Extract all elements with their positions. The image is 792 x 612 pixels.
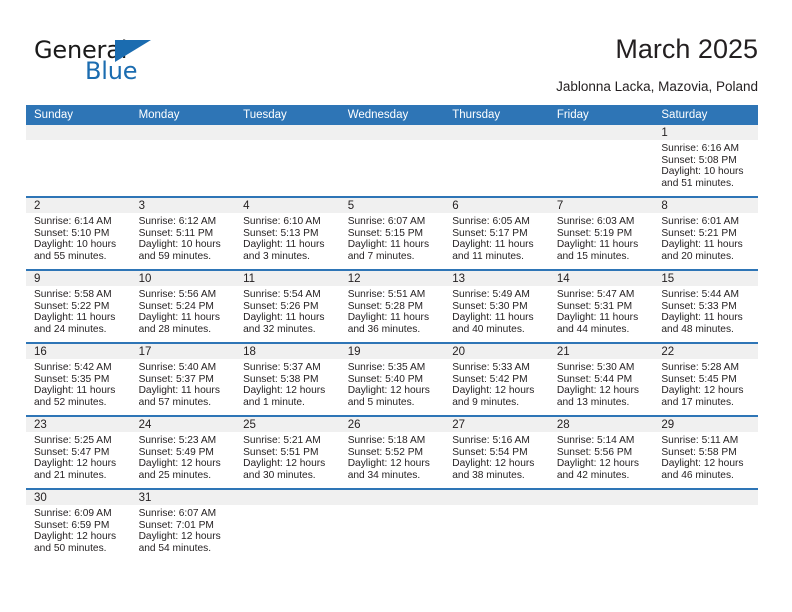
- daylight-text-line1: Daylight: 11 hours: [661, 239, 752, 251]
- calendar-day-cell[interactable]: 16Sunrise: 5:42 AMSunset: 5:35 PMDayligh…: [26, 343, 131, 416]
- sunset-text: Sunset: 5:24 PM: [139, 301, 230, 313]
- calendar-header-row: SundayMondayTuesdayWednesdayThursdayFrid…: [26, 105, 758, 125]
- calendar-day-cell[interactable]: 17Sunrise: 5:40 AMSunset: 5:37 PMDayligh…: [131, 343, 236, 416]
- day-sun-info: Sunrise: 6:07 AMSunset: 7:01 PMDaylight:…: [131, 505, 236, 554]
- day-cell-inner: 21Sunrise: 5:30 AMSunset: 5:44 PMDayligh…: [549, 344, 654, 415]
- daylight-text-line1: Daylight: 10 hours: [139, 239, 230, 251]
- day-cell-inner: 3Sunrise: 6:12 AMSunset: 5:11 PMDaylight…: [131, 198, 236, 269]
- calendar-day-cell[interactable]: 31Sunrise: 6:07 AMSunset: 7:01 PMDayligh…: [131, 489, 236, 561]
- sunrise-text: Sunrise: 5:11 AM: [661, 435, 752, 447]
- sunrise-text: Sunrise: 5:51 AM: [348, 289, 439, 301]
- sunset-text: Sunset: 5:52 PM: [348, 447, 439, 459]
- sunrise-text: Sunrise: 5:58 AM: [34, 289, 125, 301]
- day-cell-inner: 25Sunrise: 5:21 AMSunset: 5:51 PMDayligh…: [235, 417, 340, 488]
- calendar-day-cell[interactable]: 10Sunrise: 5:56 AMSunset: 5:24 PMDayligh…: [131, 270, 236, 343]
- calendar-day-cell[interactable]: 14Sunrise: 5:47 AMSunset: 5:31 PMDayligh…: [549, 270, 654, 343]
- sunset-text: Sunset: 5:51 PM: [243, 447, 334, 459]
- day-sun-info: Sunrise: 5:28 AMSunset: 5:45 PMDaylight:…: [653, 359, 758, 408]
- sunset-text: Sunset: 5:42 PM: [452, 374, 543, 386]
- daylight-text-line2: and 51 minutes.: [661, 178, 752, 190]
- calendar-day-cell[interactable]: 3Sunrise: 6:12 AMSunset: 5:11 PMDaylight…: [131, 197, 236, 270]
- sunset-text: Sunset: 5:26 PM: [243, 301, 334, 313]
- sunrise-text: Sunrise: 5:47 AM: [557, 289, 648, 301]
- daylight-text-line1: Daylight: 12 hours: [661, 458, 752, 470]
- day-sun-info: Sunrise: 5:42 AMSunset: 5:35 PMDaylight:…: [26, 359, 131, 408]
- day-sun-info: Sunrise: 5:51 AMSunset: 5:28 PMDaylight:…: [340, 286, 445, 335]
- daylight-text-line2: and 46 minutes.: [661, 470, 752, 482]
- calendar-week-row: 9Sunrise: 5:58 AMSunset: 5:22 PMDaylight…: [26, 270, 758, 343]
- day-cell-inner: 6Sunrise: 6:05 AMSunset: 5:17 PMDaylight…: [444, 198, 549, 269]
- sunrise-text: Sunrise: 6:14 AM: [34, 216, 125, 228]
- sunrise-text: Sunrise: 6:09 AM: [34, 508, 125, 520]
- day-sun-info: Sunrise: 5:30 AMSunset: 5:44 PMDaylight:…: [549, 359, 654, 408]
- day-cell-inner: 20Sunrise: 5:33 AMSunset: 5:42 PMDayligh…: [444, 344, 549, 415]
- day-cell-inner: 15Sunrise: 5:44 AMSunset: 5:33 PMDayligh…: [653, 271, 758, 342]
- day-sun-info: Sunrise: 5:37 AMSunset: 5:38 PMDaylight:…: [235, 359, 340, 408]
- day-sun-info: Sunrise: 6:14 AMSunset: 5:10 PMDaylight:…: [26, 213, 131, 262]
- daylight-text-line1: Daylight: 12 hours: [348, 458, 439, 470]
- day-cell-inner: 10Sunrise: 5:56 AMSunset: 5:24 PMDayligh…: [131, 271, 236, 342]
- daylight-text-line2: and 34 minutes.: [348, 470, 439, 482]
- day-number: [131, 125, 236, 140]
- calendar-day-cell-empty: [26, 125, 131, 197]
- sunset-text: Sunset: 5:21 PM: [661, 228, 752, 240]
- day-sun-info: Sunrise: 6:16 AMSunset: 5:08 PMDaylight:…: [653, 140, 758, 189]
- day-number: 28: [549, 417, 654, 432]
- calendar-day-cell[interactable]: 22Sunrise: 5:28 AMSunset: 5:45 PMDayligh…: [653, 343, 758, 416]
- sunrise-text: Sunrise: 6:12 AM: [139, 216, 230, 228]
- calendar-day-cell[interactable]: 24Sunrise: 5:23 AMSunset: 5:49 PMDayligh…: [131, 416, 236, 489]
- sunset-text: Sunset: 5:49 PM: [139, 447, 230, 459]
- sunrise-text: Sunrise: 5:37 AM: [243, 362, 334, 374]
- day-cell-inner: [549, 490, 654, 561]
- daylight-text-line1: Daylight: 12 hours: [139, 531, 230, 543]
- calendar-week-row: 23Sunrise: 5:25 AMSunset: 5:47 PMDayligh…: [26, 416, 758, 489]
- day-sun-info: Sunrise: 6:01 AMSunset: 5:21 PMDaylight:…: [653, 213, 758, 262]
- day-sun-info: Sunrise: 5:18 AMSunset: 5:52 PMDaylight:…: [340, 432, 445, 481]
- daylight-text-line1: Daylight: 11 hours: [348, 312, 439, 324]
- daylight-text-line2: and 48 minutes.: [661, 324, 752, 336]
- day-sun-info: Sunrise: 6:05 AMSunset: 5:17 PMDaylight:…: [444, 213, 549, 262]
- calendar-day-cell-empty: [340, 489, 445, 561]
- daylight-text-line2: and 32 minutes.: [243, 324, 334, 336]
- calendar-day-cell[interactable]: 23Sunrise: 5:25 AMSunset: 5:47 PMDayligh…: [26, 416, 131, 489]
- sunrise-text: Sunrise: 5:56 AM: [139, 289, 230, 301]
- day-cell-inner: [444, 125, 549, 196]
- day-sun-info: Sunrise: 5:56 AMSunset: 5:24 PMDaylight:…: [131, 286, 236, 335]
- sunrise-text: Sunrise: 5:21 AM: [243, 435, 334, 447]
- day-cell-inner: 1Sunrise: 6:16 AMSunset: 5:08 PMDaylight…: [653, 125, 758, 196]
- day-sun-info: Sunrise: 5:33 AMSunset: 5:42 PMDaylight:…: [444, 359, 549, 408]
- day-number: 25: [235, 417, 340, 432]
- sunrise-text: Sunrise: 6:05 AM: [452, 216, 543, 228]
- day-sun-info: Sunrise: 5:16 AMSunset: 5:54 PMDaylight:…: [444, 432, 549, 481]
- calendar-day-cell-empty: [653, 489, 758, 561]
- day-cell-inner: 11Sunrise: 5:54 AMSunset: 5:26 PMDayligh…: [235, 271, 340, 342]
- calendar-week-row: 30Sunrise: 6:09 AMSunset: 6:59 PMDayligh…: [26, 489, 758, 561]
- sunrise-text: Sunrise: 5:25 AM: [34, 435, 125, 447]
- day-number: 15: [653, 271, 758, 286]
- daylight-text-line1: Daylight: 12 hours: [34, 458, 125, 470]
- daylight-text-line2: and 5 minutes.: [348, 397, 439, 409]
- daylight-text-line2: and 28 minutes.: [139, 324, 230, 336]
- daylight-text-line2: and 15 minutes.: [557, 251, 648, 263]
- sunset-text: Sunset: 5:56 PM: [557, 447, 648, 459]
- daylight-text-line1: Daylight: 10 hours: [661, 166, 752, 178]
- daylight-text-line2: and 13 minutes.: [557, 397, 648, 409]
- daylight-text-line1: Daylight: 12 hours: [557, 385, 648, 397]
- daylight-text-line2: and 54 minutes.: [139, 543, 230, 555]
- sunset-text: Sunset: 5:58 PM: [661, 447, 752, 459]
- day-sun-info: Sunrise: 5:21 AMSunset: 5:51 PMDaylight:…: [235, 432, 340, 481]
- daylight-text-line2: and 3 minutes.: [243, 251, 334, 263]
- daylight-text-line1: Daylight: 11 hours: [557, 312, 648, 324]
- sunrise-text: Sunrise: 5:44 AM: [661, 289, 752, 301]
- day-number: 24: [131, 417, 236, 432]
- day-cell-inner: 7Sunrise: 6:03 AMSunset: 5:19 PMDaylight…: [549, 198, 654, 269]
- sunset-text: Sunset: 5:11 PM: [139, 228, 230, 240]
- weekday-header-tuesday: Tuesday: [235, 105, 340, 125]
- calendar-day-cell[interactable]: 6Sunrise: 6:05 AMSunset: 5:17 PMDaylight…: [444, 197, 549, 270]
- day-number: 5: [340, 198, 445, 213]
- sunset-text: Sunset: 5:30 PM: [452, 301, 543, 313]
- sunset-text: Sunset: 5:19 PM: [557, 228, 648, 240]
- calendar-day-cell[interactable]: 9Sunrise: 5:58 AMSunset: 5:22 PMDaylight…: [26, 270, 131, 343]
- day-sun-info: Sunrise: 6:09 AMSunset: 6:59 PMDaylight:…: [26, 505, 131, 554]
- day-cell-inner: 17Sunrise: 5:40 AMSunset: 5:37 PMDayligh…: [131, 344, 236, 415]
- daylight-text-line2: and 11 minutes.: [452, 251, 543, 263]
- sunset-text: Sunset: 5:37 PM: [139, 374, 230, 386]
- daylight-text-line2: and 42 minutes.: [557, 470, 648, 482]
- daylight-text-line1: Daylight: 10 hours: [34, 239, 125, 251]
- day-cell-inner: 18Sunrise: 5:37 AMSunset: 5:38 PMDayligh…: [235, 344, 340, 415]
- weekday-header-wednesday: Wednesday: [340, 105, 445, 125]
- daylight-text-line2: and 55 minutes.: [34, 251, 125, 263]
- daylight-text-line2: and 21 minutes.: [34, 470, 125, 482]
- calendar-day-cell[interactable]: 15Sunrise: 5:44 AMSunset: 5:33 PMDayligh…: [653, 270, 758, 343]
- day-cell-inner: 23Sunrise: 5:25 AMSunset: 5:47 PMDayligh…: [26, 417, 131, 488]
- calendar-day-cell[interactable]: 2Sunrise: 6:14 AMSunset: 5:10 PMDaylight…: [26, 197, 131, 270]
- daylight-text-line2: and 17 minutes.: [661, 397, 752, 409]
- daylight-text-line1: Daylight: 12 hours: [661, 385, 752, 397]
- day-number: 26: [340, 417, 445, 432]
- calendar-day-cell-empty: [340, 125, 445, 197]
- sunset-text: Sunset: 7:01 PM: [139, 520, 230, 532]
- calendar-day-cell[interactable]: 27Sunrise: 5:16 AMSunset: 5:54 PMDayligh…: [444, 416, 549, 489]
- daylight-text-line1: Daylight: 12 hours: [452, 458, 543, 470]
- daylight-text-line1: Daylight: 11 hours: [452, 312, 543, 324]
- sunrise-text: Sunrise: 6:03 AM: [557, 216, 648, 228]
- page-title: March 2025: [615, 34, 758, 65]
- sunrise-text: Sunrise: 6:07 AM: [348, 216, 439, 228]
- page-header: General Blue March 2025 Jablonna Lacka, …: [0, 0, 792, 100]
- calendar-day-cell[interactable]: 12Sunrise: 5:51 AMSunset: 5:28 PMDayligh…: [340, 270, 445, 343]
- daylight-text-line1: Daylight: 12 hours: [139, 458, 230, 470]
- day-cell-inner: [235, 490, 340, 561]
- daylight-text-line2: and 7 minutes.: [348, 251, 439, 263]
- day-cell-inner: 9Sunrise: 5:58 AMSunset: 5:22 PMDaylight…: [26, 271, 131, 342]
- day-cell-inner: 5Sunrise: 6:07 AMSunset: 5:15 PMDaylight…: [340, 198, 445, 269]
- day-number: 7: [549, 198, 654, 213]
- daylight-text-line2: and 57 minutes.: [139, 397, 230, 409]
- daylight-text-line2: and 1 minute.: [243, 397, 334, 409]
- daylight-text-line1: Daylight: 12 hours: [557, 458, 648, 470]
- sunrise-sunset-calendar-table: SundayMondayTuesdayWednesdayThursdayFrid…: [26, 105, 758, 561]
- daylight-text-line1: Daylight: 12 hours: [34, 531, 125, 543]
- calendar-day-cell-empty: [549, 489, 654, 561]
- day-number: 14: [549, 271, 654, 286]
- day-sun-info: Sunrise: 5:47 AMSunset: 5:31 PMDaylight:…: [549, 286, 654, 335]
- calendar-day-cell[interactable]: 1Sunrise: 6:16 AMSunset: 5:08 PMDaylight…: [653, 125, 758, 197]
- sunset-text: Sunset: 5:33 PM: [661, 301, 752, 313]
- day-number: [235, 125, 340, 140]
- brand-logo[interactable]: General Blue: [34, 36, 194, 90]
- sunset-text: Sunset: 5:35 PM: [34, 374, 125, 386]
- daylight-text-line1: Daylight: 11 hours: [243, 312, 334, 324]
- day-number: 6: [444, 198, 549, 213]
- sunrise-text: Sunrise: 5:18 AM: [348, 435, 439, 447]
- calendar-day-cell[interactable]: 28Sunrise: 5:14 AMSunset: 5:56 PMDayligh…: [549, 416, 654, 489]
- day-number: [444, 125, 549, 140]
- day-sun-info: Sunrise: 6:10 AMSunset: 5:13 PMDaylight:…: [235, 213, 340, 262]
- sunrise-text: Sunrise: 5:54 AM: [243, 289, 334, 301]
- daylight-text-line1: Daylight: 11 hours: [34, 312, 125, 324]
- day-number: 31: [131, 490, 236, 505]
- daylight-text-line2: and 50 minutes.: [34, 543, 125, 555]
- day-cell-inner: 8Sunrise: 6:01 AMSunset: 5:21 PMDaylight…: [653, 198, 758, 269]
- sunrise-text: Sunrise: 5:14 AM: [557, 435, 648, 447]
- sunset-text: Sunset: 5:15 PM: [348, 228, 439, 240]
- daylight-text-line1: Daylight: 11 hours: [452, 239, 543, 251]
- calendar-day-cell[interactable]: 13Sunrise: 5:49 AMSunset: 5:30 PMDayligh…: [444, 270, 549, 343]
- day-cell-inner: [444, 490, 549, 561]
- daylight-text-line1: Daylight: 11 hours: [139, 385, 230, 397]
- sunrise-text: Sunrise: 5:40 AM: [139, 362, 230, 374]
- daylight-text-line2: and 24 minutes.: [34, 324, 125, 336]
- day-cell-inner: 2Sunrise: 6:14 AMSunset: 5:10 PMDaylight…: [26, 198, 131, 269]
- calendar-week-row: 2Sunrise: 6:14 AMSunset: 5:10 PMDaylight…: [26, 197, 758, 270]
- day-cell-inner: 24Sunrise: 5:23 AMSunset: 5:49 PMDayligh…: [131, 417, 236, 488]
- day-number: [340, 490, 445, 505]
- sunrise-text: Sunrise: 6:07 AM: [139, 508, 230, 520]
- calendar-day-cell-empty: [549, 125, 654, 197]
- calendar-day-cell[interactable]: 29Sunrise: 5:11 AMSunset: 5:58 PMDayligh…: [653, 416, 758, 489]
- day-sun-info: Sunrise: 6:03 AMSunset: 5:19 PMDaylight:…: [549, 213, 654, 262]
- day-cell-inner: [653, 490, 758, 561]
- day-sun-info: Sunrise: 5:14 AMSunset: 5:56 PMDaylight:…: [549, 432, 654, 481]
- day-number: 16: [26, 344, 131, 359]
- day-cell-inner: 12Sunrise: 5:51 AMSunset: 5:28 PMDayligh…: [340, 271, 445, 342]
- day-number: 17: [131, 344, 236, 359]
- day-number: 18: [235, 344, 340, 359]
- daylight-text-line2: and 20 minutes.: [661, 251, 752, 263]
- day-number: 13: [444, 271, 549, 286]
- daylight-text-line2: and 52 minutes.: [34, 397, 125, 409]
- day-number: [444, 490, 549, 505]
- calendar-week-row: 16Sunrise: 5:42 AMSunset: 5:35 PMDayligh…: [26, 343, 758, 416]
- day-number: 12: [340, 271, 445, 286]
- daylight-text-line2: and 40 minutes.: [452, 324, 543, 336]
- day-sun-info: Sunrise: 6:07 AMSunset: 5:15 PMDaylight:…: [340, 213, 445, 262]
- day-number: 20: [444, 344, 549, 359]
- day-number: 27: [444, 417, 549, 432]
- sunset-text: Sunset: 5:22 PM: [34, 301, 125, 313]
- day-number: 29: [653, 417, 758, 432]
- calendar-day-cell[interactable]: 5Sunrise: 6:07 AMSunset: 5:15 PMDaylight…: [340, 197, 445, 270]
- sunset-text: Sunset: 5:47 PM: [34, 447, 125, 459]
- day-cell-inner: 26Sunrise: 5:18 AMSunset: 5:52 PMDayligh…: [340, 417, 445, 488]
- day-number: 21: [549, 344, 654, 359]
- day-number: [549, 490, 654, 505]
- day-number: 8: [653, 198, 758, 213]
- sunset-text: Sunset: 5:13 PM: [243, 228, 334, 240]
- sunrise-text: Sunrise: 5:42 AM: [34, 362, 125, 374]
- sunset-text: Sunset: 5:10 PM: [34, 228, 125, 240]
- daylight-text-line1: Daylight: 12 hours: [452, 385, 543, 397]
- daylight-text-line1: Daylight: 11 hours: [557, 239, 648, 251]
- daylight-text-line2: and 30 minutes.: [243, 470, 334, 482]
- sunrise-text: Sunrise: 5:28 AM: [661, 362, 752, 374]
- calendar-day-cell[interactable]: 30Sunrise: 6:09 AMSunset: 6:59 PMDayligh…: [26, 489, 131, 561]
- day-number: 9: [26, 271, 131, 286]
- day-sun-info: Sunrise: 5:44 AMSunset: 5:33 PMDaylight:…: [653, 286, 758, 335]
- sunrise-text: Sunrise: 6:10 AM: [243, 216, 334, 228]
- weekday-header-thursday: Thursday: [444, 105, 549, 125]
- day-cell-inner: 16Sunrise: 5:42 AMSunset: 5:35 PMDayligh…: [26, 344, 131, 415]
- day-number: 30: [26, 490, 131, 505]
- day-sun-info: Sunrise: 5:23 AMSunset: 5:49 PMDaylight:…: [131, 432, 236, 481]
- daylight-text-line2: and 38 minutes.: [452, 470, 543, 482]
- day-number: 23: [26, 417, 131, 432]
- daylight-text-line2: and 44 minutes.: [557, 324, 648, 336]
- brand-name-blue: Blue: [85, 57, 137, 85]
- weekday-header-monday: Monday: [131, 105, 236, 125]
- sunset-text: Sunset: 5:44 PM: [557, 374, 648, 386]
- calendar-body: 1Sunrise: 6:16 AMSunset: 5:08 PMDaylight…: [26, 125, 758, 561]
- day-cell-inner: [340, 490, 445, 561]
- day-cell-inner: 30Sunrise: 6:09 AMSunset: 6:59 PMDayligh…: [26, 490, 131, 561]
- sunset-text: Sunset: 5:28 PM: [348, 301, 439, 313]
- daylight-text-line1: Daylight: 12 hours: [348, 385, 439, 397]
- day-cell-inner: [340, 125, 445, 196]
- sunrise-text: Sunrise: 5:35 AM: [348, 362, 439, 374]
- calendar-day-cell[interactable]: 20Sunrise: 5:33 AMSunset: 5:42 PMDayligh…: [444, 343, 549, 416]
- day-sun-info: Sunrise: 6:12 AMSunset: 5:11 PMDaylight:…: [131, 213, 236, 262]
- day-cell-inner: 29Sunrise: 5:11 AMSunset: 5:58 PMDayligh…: [653, 417, 758, 488]
- day-cell-inner: [26, 125, 131, 196]
- daylight-text-line1: Daylight: 12 hours: [243, 458, 334, 470]
- daylight-text-line1: Daylight: 12 hours: [243, 385, 334, 397]
- calendar-day-cell[interactable]: 18Sunrise: 5:37 AMSunset: 5:38 PMDayligh…: [235, 343, 340, 416]
- day-number: 4: [235, 198, 340, 213]
- calendar-day-cell-empty: [235, 489, 340, 561]
- day-sun-info: Sunrise: 5:35 AMSunset: 5:40 PMDaylight:…: [340, 359, 445, 408]
- calendar-day-cell[interactable]: 25Sunrise: 5:21 AMSunset: 5:51 PMDayligh…: [235, 416, 340, 489]
- day-cell-inner: [235, 125, 340, 196]
- day-number: 3: [131, 198, 236, 213]
- sunset-text: Sunset: 5:31 PM: [557, 301, 648, 313]
- daylight-text-line1: Daylight: 11 hours: [243, 239, 334, 251]
- sunrise-text: Sunrise: 5:30 AM: [557, 362, 648, 374]
- day-cell-inner: 19Sunrise: 5:35 AMSunset: 5:40 PMDayligh…: [340, 344, 445, 415]
- daylight-text-line2: and 36 minutes.: [348, 324, 439, 336]
- sunrise-text: Sunrise: 5:16 AM: [452, 435, 543, 447]
- sunset-text: Sunset: 5:17 PM: [452, 228, 543, 240]
- day-sun-info: Sunrise: 5:54 AMSunset: 5:26 PMDaylight:…: [235, 286, 340, 335]
- day-number: [653, 490, 758, 505]
- day-number: 11: [235, 271, 340, 286]
- sunrise-text: Sunrise: 6:01 AM: [661, 216, 752, 228]
- day-number: [235, 490, 340, 505]
- day-number: 22: [653, 344, 758, 359]
- calendar-day-cell-empty: [131, 125, 236, 197]
- daylight-text-line1: Daylight: 11 hours: [661, 312, 752, 324]
- calendar-page: General Blue March 2025 Jablonna Lacka, …: [0, 0, 792, 612]
- sunrise-text: Sunrise: 5:49 AM: [452, 289, 543, 301]
- sunset-text: Sunset: 5:45 PM: [661, 374, 752, 386]
- sunset-text: Sunset: 5:54 PM: [452, 447, 543, 459]
- calendar-day-cell-empty: [444, 489, 549, 561]
- calendar-day-cell[interactable]: 11Sunrise: 5:54 AMSunset: 5:26 PMDayligh…: [235, 270, 340, 343]
- day-sun-info: Sunrise: 5:40 AMSunset: 5:37 PMDaylight:…: [131, 359, 236, 408]
- page-subtitle: Jablonna Lacka, Mazovia, Poland: [556, 79, 758, 94]
- sunset-text: Sunset: 6:59 PM: [34, 520, 125, 532]
- daylight-text-line2: and 25 minutes.: [139, 470, 230, 482]
- calendar-day-cell-empty: [235, 125, 340, 197]
- day-cell-inner: 27Sunrise: 5:16 AMSunset: 5:54 PMDayligh…: [444, 417, 549, 488]
- daylight-text-line2: and 59 minutes.: [139, 251, 230, 263]
- day-number: [549, 125, 654, 140]
- day-sun-info: Sunrise: 5:25 AMSunset: 5:47 PMDaylight:…: [26, 432, 131, 481]
- calendar-day-cell[interactable]: 4Sunrise: 6:10 AMSunset: 5:13 PMDaylight…: [235, 197, 340, 270]
- day-cell-inner: 22Sunrise: 5:28 AMSunset: 5:45 PMDayligh…: [653, 344, 758, 415]
- sunset-text: Sunset: 5:40 PM: [348, 374, 439, 386]
- sunset-text: Sunset: 5:08 PM: [661, 155, 752, 167]
- day-sun-info: Sunrise: 5:11 AMSunset: 5:58 PMDaylight:…: [653, 432, 758, 481]
- calendar-day-cell[interactable]: 21Sunrise: 5:30 AMSunset: 5:44 PMDayligh…: [549, 343, 654, 416]
- day-number: 2: [26, 198, 131, 213]
- weekday-header-saturday: Saturday: [653, 105, 758, 125]
- calendar-day-cell[interactable]: 26Sunrise: 5:18 AMSunset: 5:52 PMDayligh…: [340, 416, 445, 489]
- sunset-text: Sunset: 5:38 PM: [243, 374, 334, 386]
- day-cell-inner: 28Sunrise: 5:14 AMSunset: 5:56 PMDayligh…: [549, 417, 654, 488]
- sunrise-text: Sunrise: 6:16 AM: [661, 143, 752, 155]
- day-sun-info: Sunrise: 5:58 AMSunset: 5:22 PMDaylight:…: [26, 286, 131, 335]
- day-number: 19: [340, 344, 445, 359]
- calendar-day-cell[interactable]: 19Sunrise: 5:35 AMSunset: 5:40 PMDayligh…: [340, 343, 445, 416]
- day-number: 10: [131, 271, 236, 286]
- calendar-week-row: 1Sunrise: 6:16 AMSunset: 5:08 PMDaylight…: [26, 125, 758, 197]
- daylight-text-line2: and 9 minutes.: [452, 397, 543, 409]
- day-number: [340, 125, 445, 140]
- day-cell-inner: 31Sunrise: 6:07 AMSunset: 7:01 PMDayligh…: [131, 490, 236, 561]
- weekday-header-friday: Friday: [549, 105, 654, 125]
- day-sun-info: Sunrise: 5:49 AMSunset: 5:30 PMDaylight:…: [444, 286, 549, 335]
- day-cell-inner: 13Sunrise: 5:49 AMSunset: 5:30 PMDayligh…: [444, 271, 549, 342]
- calendar-day-cell-empty: [444, 125, 549, 197]
- day-cell-inner: 14Sunrise: 5:47 AMSunset: 5:31 PMDayligh…: [549, 271, 654, 342]
- day-cell-inner: [549, 125, 654, 196]
- day-cell-inner: [131, 125, 236, 196]
- calendar-day-cell[interactable]: 8Sunrise: 6:01 AMSunset: 5:21 PMDaylight…: [653, 197, 758, 270]
- calendar-day-cell[interactable]: 7Sunrise: 6:03 AMSunset: 5:19 PMDaylight…: [549, 197, 654, 270]
- day-number: 1: [653, 125, 758, 140]
- daylight-text-line1: Daylight: 11 hours: [139, 312, 230, 324]
- daylight-text-line1: Daylight: 11 hours: [348, 239, 439, 251]
- sunrise-text: Sunrise: 5:23 AM: [139, 435, 230, 447]
- sunrise-text: Sunrise: 5:33 AM: [452, 362, 543, 374]
- day-cell-inner: 4Sunrise: 6:10 AMSunset: 5:13 PMDaylight…: [235, 198, 340, 269]
